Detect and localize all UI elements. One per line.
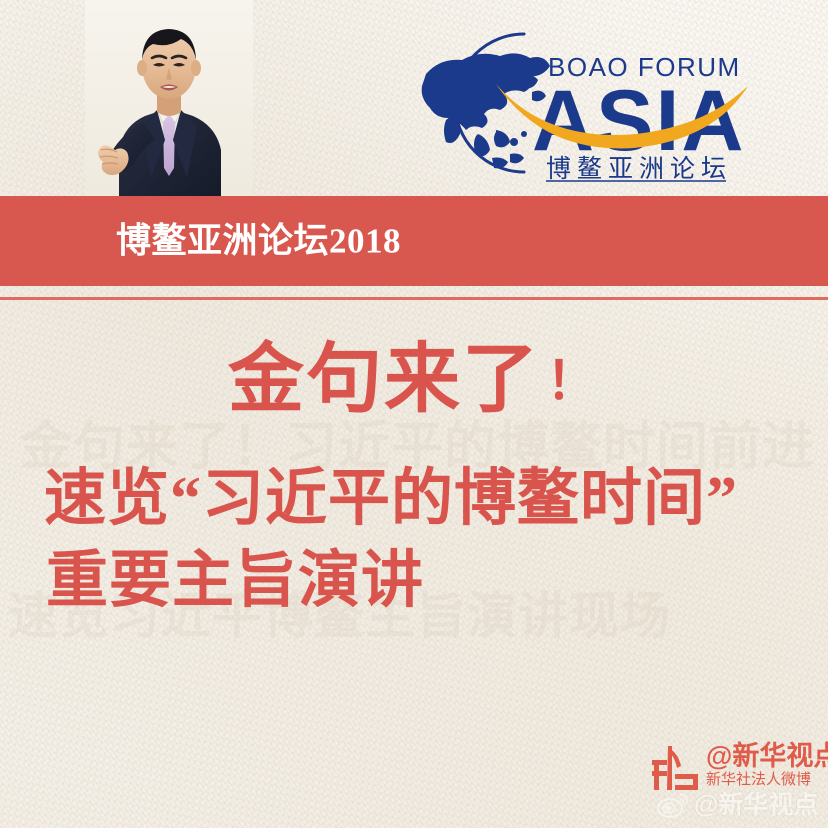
boao-forum-logo: BOAO FORUM FOR ASIA 博鳌亚洲论坛 [396,22,748,184]
portrait-illustration [85,0,253,196]
weibo-watermark: @新华视点 [656,790,828,824]
portrait-photo [85,0,253,196]
headline-exclamation: ！ [546,354,600,411]
xinhua-brand-text: @新华视点 新华社法人微博 [706,742,828,789]
weibo-handle-text: @新华视点 [694,790,818,820]
title-banner: 博鳌亚洲论坛2018 [0,196,828,286]
xinhua-logo-icon [648,744,702,792]
headline-primary-text: 金句来了 [228,338,540,422]
xinhua-handle: @新华视点 [706,742,828,770]
headline-tertiary: 重要主旨演讲 [46,550,424,612]
logo-chinese-name: 博鳌亚洲论坛 [546,155,732,183]
headline-primary: 金句来了！ [0,342,828,418]
weibo-eye-icon [656,790,690,820]
boao-logo-graphic: BOAO FORUM FOR ASIA 博鳌亚洲论坛 [396,22,748,184]
banner-title-text: 博鳌亚洲论坛2018 [116,224,401,259]
headline-secondary: 速览“习近平的博鳌时间” [44,468,738,530]
xinhua-subtitle: 新华社法人微博 [706,771,828,789]
logo-asia-map [422,53,550,168]
poster-canvas: 金句来了！习近平的博鳌时间前进 速览习近平博鳌主旨演讲现场 [0,0,828,828]
banner-divider-rule [0,297,828,300]
